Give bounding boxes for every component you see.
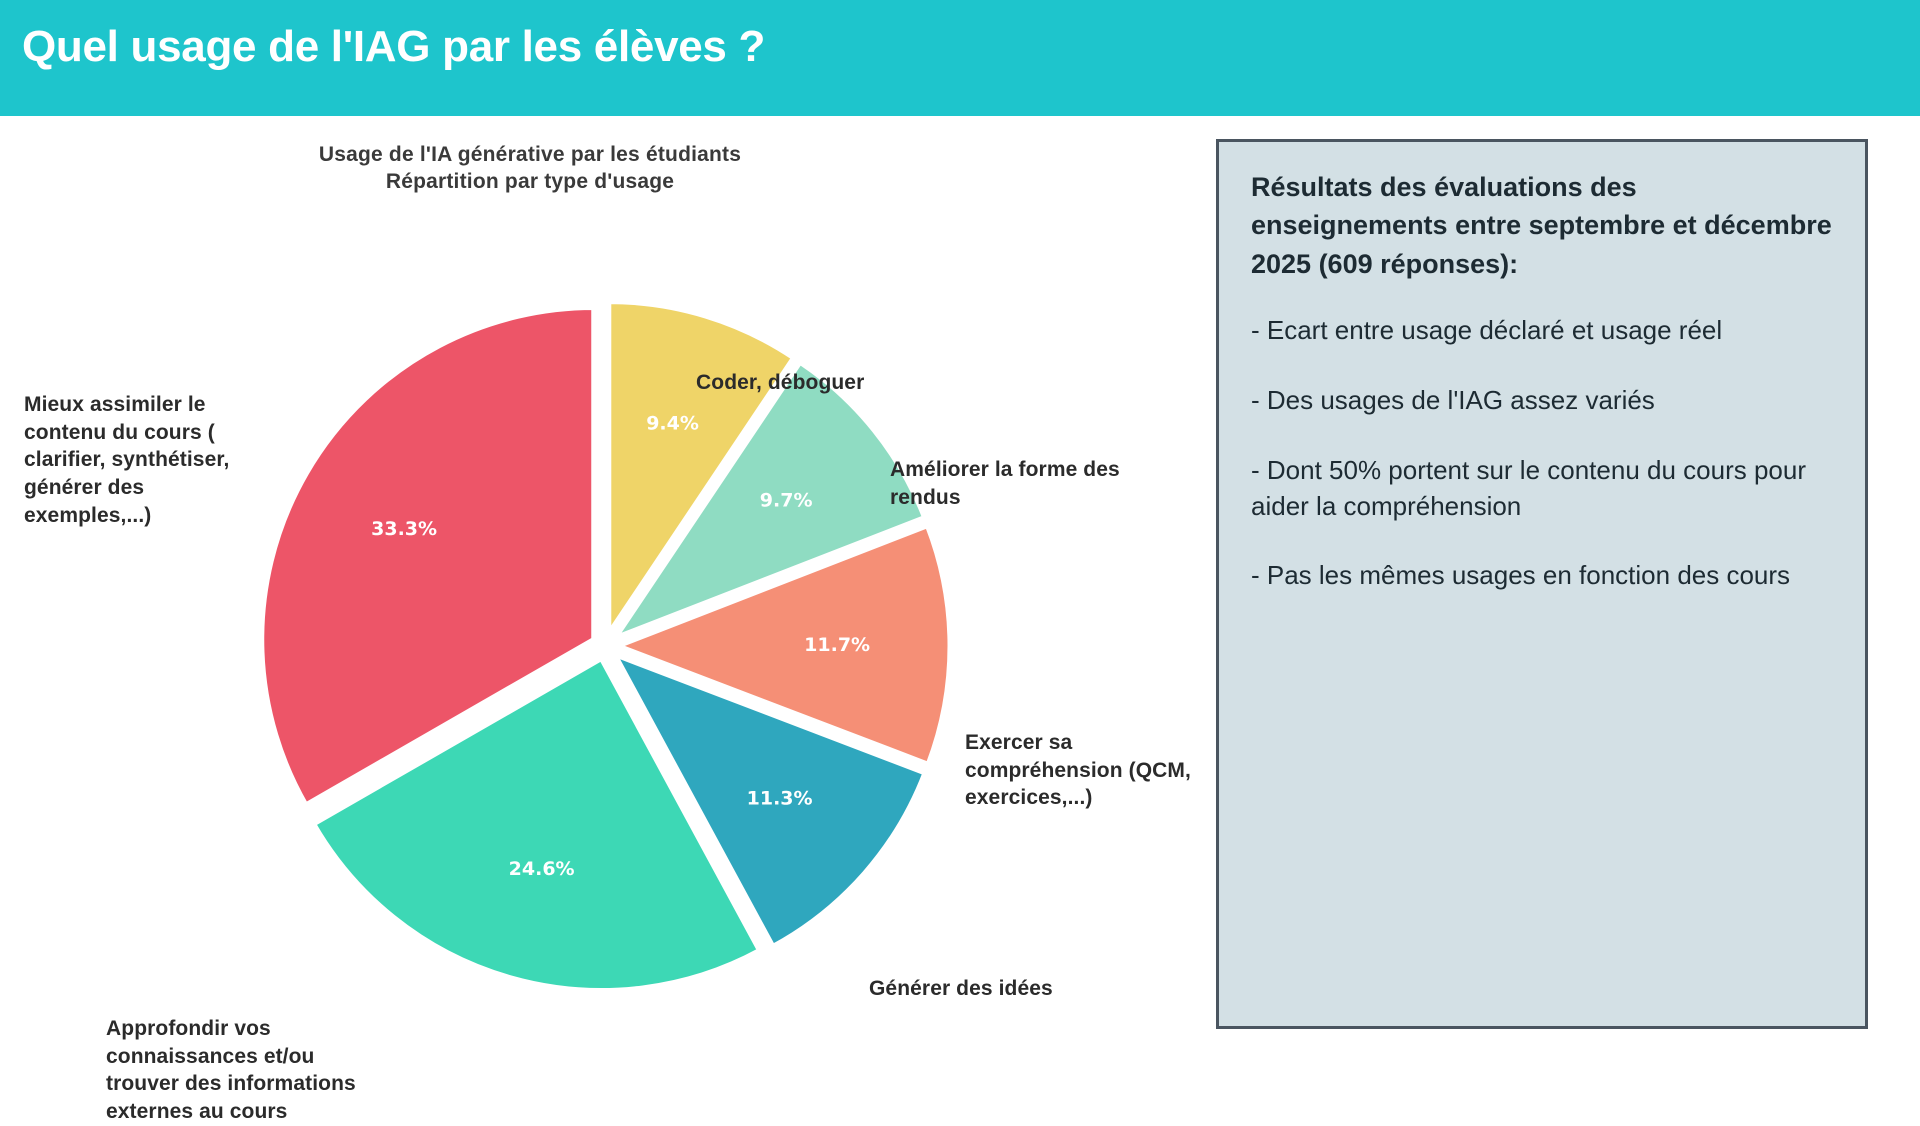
page-title: Quel usage de l'IAG par les élèves ? xyxy=(22,22,765,72)
pie-label-coder-deboguer: Coder, déboguer xyxy=(696,369,996,397)
pie-chart-region: Usage de l'IA générative par les étudian… xyxy=(0,116,1215,1080)
pie-label-mieux-assimiler: Mieux assimiler le contenu du cours ( cl… xyxy=(24,391,274,530)
chart-title-line2: Répartition par type d'usage xyxy=(0,168,1060,195)
results-panel-item: - Dont 50% portent sur le contenu du cou… xyxy=(1251,453,1833,525)
results-panel: Résultats des évaluations des enseigneme… xyxy=(1216,139,1868,1029)
chart-title: Usage de l'IA générative par les étudian… xyxy=(0,141,1060,196)
pie-slice-value-label: 11.7% xyxy=(804,634,870,656)
results-panel-item: - Des usages de l'IAG assez variés xyxy=(1251,383,1833,419)
chart-title-line1: Usage de l'IA générative par les étudian… xyxy=(0,141,1060,168)
pie-slice-value-label: 9.4% xyxy=(646,412,699,434)
pie-slice-value-label: 33.3% xyxy=(371,518,437,540)
pie-label-exercer-comprehension: Exercer sa compréhension (QCM, exercices… xyxy=(965,729,1195,812)
pie-slice-value-label: 11.3% xyxy=(747,787,813,809)
slide: Quel usage de l'IAG par les élèves ? Usa… xyxy=(0,0,1920,1080)
header-bar: Quel usage de l'IAG par les élèves ? xyxy=(0,0,1920,116)
results-panel-heading: Résultats des évaluations des enseigneme… xyxy=(1251,168,1833,283)
pie-slice-value-label: 9.7% xyxy=(760,489,813,511)
pie-label-ameliorer-forme: Améliorer la forme des rendus xyxy=(890,456,1140,511)
pie-label-generer-idees: Générer des idées xyxy=(869,975,1099,1003)
results-panel-item: - Pas les mêmes usages en fonction des c… xyxy=(1251,558,1833,594)
results-panel-item: - Ecart entre usage déclaré et usage rée… xyxy=(1251,313,1833,349)
results-panel-list: - Ecart entre usage déclaré et usage rée… xyxy=(1251,313,1833,594)
results-panel-content: Résultats des évaluations des enseigneme… xyxy=(1219,142,1865,594)
pie-slice-value-label: 24.6% xyxy=(509,858,575,880)
pie-label-approfondir: Approfondir vos connaissances et/ou trou… xyxy=(106,1015,366,1126)
